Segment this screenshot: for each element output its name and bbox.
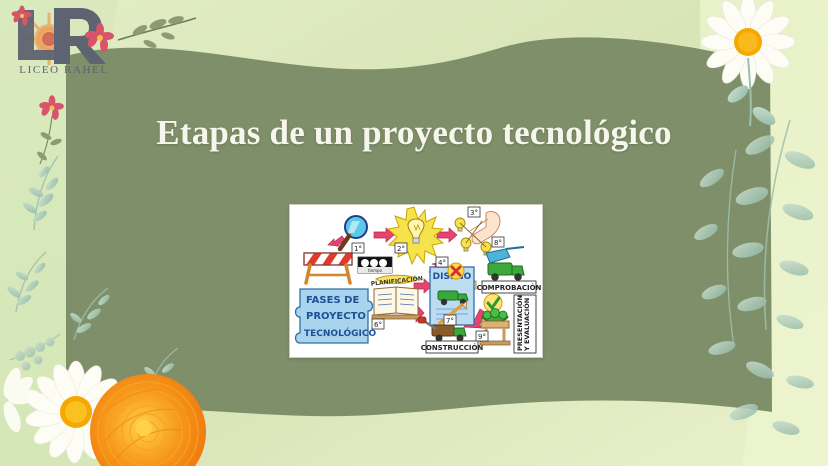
infographic-svg: 1° 2° xyxy=(290,205,542,357)
step-badge-4: 4° xyxy=(436,257,448,267)
page-title: Etapas de un proyecto tecnológico xyxy=(0,113,828,153)
step-badge-6: 6° xyxy=(372,319,384,329)
step-badge-8: 8° xyxy=(492,237,504,247)
construccion-label: CONSTRUCCIÓN xyxy=(421,341,484,353)
svg-text:1°: 1° xyxy=(354,245,362,253)
svg-text:7°: 7° xyxy=(446,317,454,325)
svg-text:COMPROBACIÓN: COMPROBACIÓN xyxy=(477,283,542,292)
svg-text:2°: 2° xyxy=(397,245,405,253)
puzzle-line-3: TECNOLÓGICO xyxy=(304,327,376,339)
step-badge-7: 7° xyxy=(444,315,456,325)
comprobacion-label: COMPROBACIÓN xyxy=(477,281,542,293)
svg-text:9°: 9° xyxy=(478,333,486,341)
step-badge-9: 9° xyxy=(476,331,488,341)
svg-text:tiempo: tiempo xyxy=(368,268,383,273)
slide-root: LICEO RAHEL Etapas de un proyecto tecnol… xyxy=(0,0,828,466)
puzzle-line-2: PROYECTO xyxy=(306,311,366,322)
figure-alt-text: Infografía: Fases de proyecto tecnológic… xyxy=(290,357,291,358)
logo-name-text: LICEO RAHEL xyxy=(6,64,122,76)
step-badge-1: 1° xyxy=(352,243,364,253)
svg-text:3°: 3° xyxy=(470,209,478,217)
svg-text:CONSTRUCCIÓN: CONSTRUCCIÓN xyxy=(421,343,484,352)
svg-text:8°: 8° xyxy=(494,239,502,247)
step-badge-2: 2° xyxy=(395,243,407,253)
title-puzzle-block: FASES DE PROYECTO TECNOLÓGICO xyxy=(296,289,377,343)
svg-text:Y EVALUACIÓN: Y EVALUACIÓN xyxy=(522,298,531,352)
presentacion-evaluacion-label: PRESENTACIÓN Y EVALUACIÓN xyxy=(514,295,536,353)
school-logo: LICEO RAHEL xyxy=(4,6,124,82)
logo-monogram-icon xyxy=(4,6,124,68)
svg-text:4°: 4° xyxy=(438,259,446,267)
puzzle-line-1: FASES DE xyxy=(306,295,359,306)
clock-strip-icon: tiempo xyxy=(358,257,392,273)
svg-text:6°: 6° xyxy=(374,321,382,329)
red-cross-icon xyxy=(448,263,464,279)
step-badge-3: 3° xyxy=(468,207,480,217)
infographic-image[interactable]: 1° 2° xyxy=(289,204,543,358)
